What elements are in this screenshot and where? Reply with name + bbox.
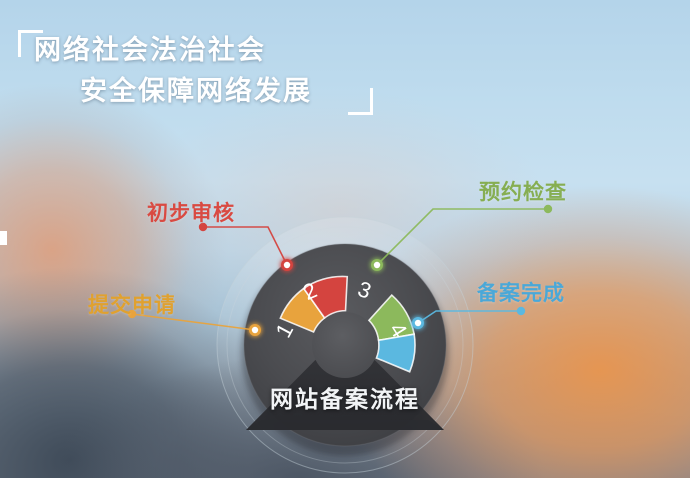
slide-canvas: 网络社会法治社会 安全保障网络发展	[0, 0, 690, 478]
diagram-caption: 网站备案流程	[0, 380, 690, 414]
callout-label-inspect[interactable]: 预约检查	[479, 176, 567, 206]
donut-hub	[312, 312, 378, 378]
callout-label-review[interactable]: 初步审核	[147, 197, 235, 227]
callout-label-complete[interactable]: 备案完成	[477, 277, 565, 307]
callout-label-submit[interactable]: 提交申请	[88, 289, 176, 319]
edge-artifact	[0, 231, 7, 245]
pedestal-wedge-shade	[246, 420, 444, 430]
process-diagram: 1 2 3 4	[0, 0, 690, 478]
